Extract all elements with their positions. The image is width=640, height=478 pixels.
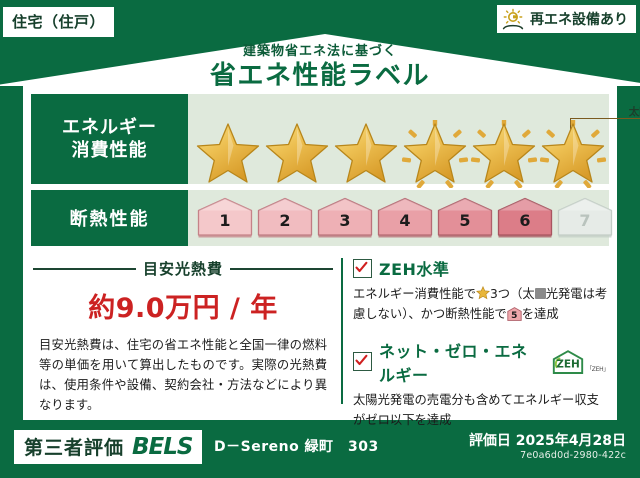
zeh-body-mid: 3つ（太 xyxy=(490,287,535,301)
star-4-solar xyxy=(401,120,469,188)
insulation-level-5: 5 xyxy=(436,196,494,240)
utility-cost-section: 目安光熱費 約9.0万円 / 年 目安光熱費は、住宅の省エネ性能と全国一律の燃料… xyxy=(33,256,333,416)
solar-sun-icon xyxy=(502,8,526,30)
net-zero-checkbox xyxy=(353,352,372,371)
bels-badge: 第三者評価 BELS xyxy=(14,430,202,464)
star-rating: 太陽光発電(自家消費)分 xyxy=(194,106,606,182)
inline-house-level-number: 5 xyxy=(507,309,522,324)
utility-cost-note: 目安光熱費は、住宅の省エネ性能と全国一律の燃料等の単価を用いて算出したものです。… xyxy=(33,336,333,416)
energy-performance-row: エネルギー 消費性能 太陽光発電(自家消費)分 xyxy=(31,94,609,184)
column-divider xyxy=(341,258,343,404)
net-zero-header: ネット・ゼロ・エネルギー ZEH 「ZEH」 xyxy=(353,338,609,386)
bels-en-label: BELS xyxy=(132,434,192,460)
insulation-level-3: 3 xyxy=(316,196,374,240)
zeh-body-end: を達成 xyxy=(522,307,559,321)
zeh-standard-title: ZEH水準 xyxy=(379,256,449,280)
property-name: D－Sereno 緑町 303 xyxy=(214,436,379,456)
label-body: エネルギー 消費性能 太陽光発電(自家消費)分 xyxy=(23,86,617,420)
certification-section: ZEH水準 エネルギー消費性能で3つ（太光発電は考慮しない）、かつ断熱性能で5を… xyxy=(353,256,609,431)
insulation-level-7: 7 xyxy=(556,196,614,240)
gold-star-icon xyxy=(332,120,400,188)
sparkle-star-icon xyxy=(401,120,469,188)
insulation-level-number: 6 xyxy=(496,211,554,230)
sparkle-star-icon xyxy=(470,120,538,188)
insulation-level-number: 2 xyxy=(256,211,314,230)
zeh-body-pre: エネルギー消費性能で xyxy=(353,287,476,301)
energy-label-line2: 消費性能 xyxy=(72,139,148,162)
renewable-equipment-tag: 再エネ設備あり xyxy=(496,4,637,34)
check-icon xyxy=(355,261,368,274)
net-zero-title: ネット・ゼロ・エネルギー xyxy=(379,338,541,386)
utility-cost-value: 約9.0万円 / 年 xyxy=(33,286,333,325)
gold-star-icon xyxy=(194,120,262,188)
inline-star-icon xyxy=(476,286,490,300)
zeh-standard-body: エネルギー消費性能で3つ（太光発電は考慮しない）、かつ断熱性能で5を達成 xyxy=(353,285,609,325)
evaluation-id: 7e0a6d0d-2980-422c xyxy=(520,450,626,461)
svg-text:ZEH: ZEH xyxy=(556,358,580,370)
renewable-equipment-label: 再エネ設備あり xyxy=(530,9,628,29)
label-footer: 第三者評価 BELS D－Sereno 緑町 303 評価日 2025年4月28… xyxy=(0,424,640,478)
insulation-level-number: 3 xyxy=(316,211,374,230)
insulation-level-2: 2 xyxy=(256,196,314,240)
star-1 xyxy=(194,120,262,188)
heading-rule-left xyxy=(33,268,136,270)
star-5-solar xyxy=(470,120,538,188)
utility-cost-heading-text: 目安光熱費 xyxy=(143,258,223,279)
energy-performance-label: 住宅（住戸） 再エネ設備あり 建築物省エネ法に基づく 省エネ性能ラベル エネルギ… xyxy=(0,0,640,478)
solar-bracket-caption: 太陽光発電(自家消費)分 xyxy=(570,104,640,119)
utility-cost-heading: 目安光熱費 xyxy=(33,258,333,279)
insulation-level-number: 4 xyxy=(376,211,434,230)
dwelling-type-tag: 住宅（住戸） xyxy=(2,6,115,38)
insulation-level-number: 5 xyxy=(436,211,494,230)
star-6-solar xyxy=(539,120,607,188)
zeh-checkbox xyxy=(353,259,372,278)
heading-rule-right xyxy=(230,268,333,270)
zeh-badge-caption: 「ZEH」 xyxy=(586,364,609,375)
star-3 xyxy=(332,120,400,188)
insulation-level-number: 1 xyxy=(196,211,254,230)
inline-sun-icon xyxy=(535,288,546,299)
sparkle-star-icon xyxy=(539,120,607,188)
insulation-level-number: 7 xyxy=(556,211,614,230)
energy-label-line1: エネルギー xyxy=(62,116,157,139)
insulation-level-1: 1 xyxy=(196,196,254,240)
zeh-standard-header: ZEH水準 xyxy=(353,256,609,280)
evaluation-date: 評価日 2025年4月28日 xyxy=(469,430,626,450)
energy-performance-row-label: エネルギー 消費性能 xyxy=(31,94,188,184)
zeh-house-icon: ZEH xyxy=(551,349,585,375)
star-2 xyxy=(263,120,331,188)
insulation-performance-row: 断熱性能 1 2 3 4 xyxy=(31,190,609,246)
insulation-level-4: 4 xyxy=(376,196,434,240)
insulation-row-label: 断熱性能 xyxy=(31,190,188,246)
inline-house-level-icon: 5 xyxy=(507,307,522,321)
bels-jp-label: 第三者評価 xyxy=(24,433,124,460)
insulation-level-6: 6 xyxy=(496,196,554,240)
gold-star-icon xyxy=(263,120,331,188)
check-icon xyxy=(355,354,368,367)
zeh-logo-badge: ZEH 「ZEH」 xyxy=(551,349,609,375)
insulation-scale: 1 2 3 4 5 xyxy=(196,196,614,240)
